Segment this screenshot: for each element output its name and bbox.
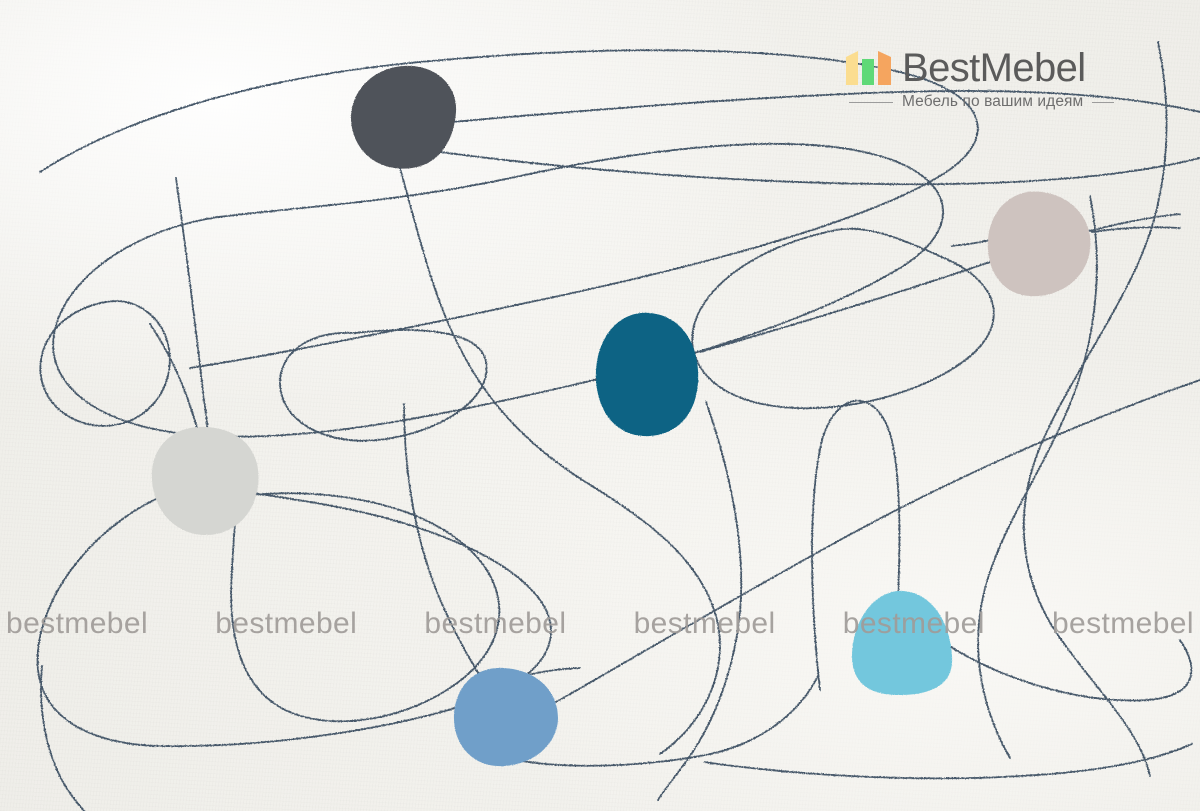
- line-bottom-left-tail: [41, 666, 84, 811]
- line-diagonal-right-upper: [430, 91, 1200, 124]
- steel-blue-pebble: [454, 668, 558, 766]
- line-bottom-right-sweep: [658, 402, 741, 800]
- turquoise-pebble: [852, 591, 952, 695]
- line-bottom-baseline: [704, 744, 1192, 778]
- line-center-descending: [400, 168, 720, 754]
- light-grey-pebble: [152, 427, 259, 535]
- line-top-left-loop: [53, 144, 943, 437]
- line-small-circle-to-grey: [150, 324, 200, 440]
- line-bottom-center-egg: [231, 493, 499, 721]
- abstract-lines-and-pebbles-svg: [0, 0, 1200, 811]
- line-tall-right-arc: [1024, 42, 1167, 776]
- dark-grey-pebble: [351, 66, 456, 169]
- line-navy-to-taupe: [700, 214, 1180, 352]
- line-arc-above-blue: [404, 404, 500, 706]
- mural-artwork-canvas: bestmebel bestmebel bestmebel bestmebel …: [0, 0, 1200, 811]
- taupe-pebble: [988, 192, 1091, 297]
- line-left-small-circle: [40, 301, 169, 426]
- line-left-descending: [176, 178, 208, 444]
- artwork-line-layer: [0, 0, 1200, 811]
- petrol-blue-pebble: [596, 313, 698, 436]
- line-right-center-oval: [692, 229, 994, 409]
- line-taupe-left-connector: [952, 240, 990, 246]
